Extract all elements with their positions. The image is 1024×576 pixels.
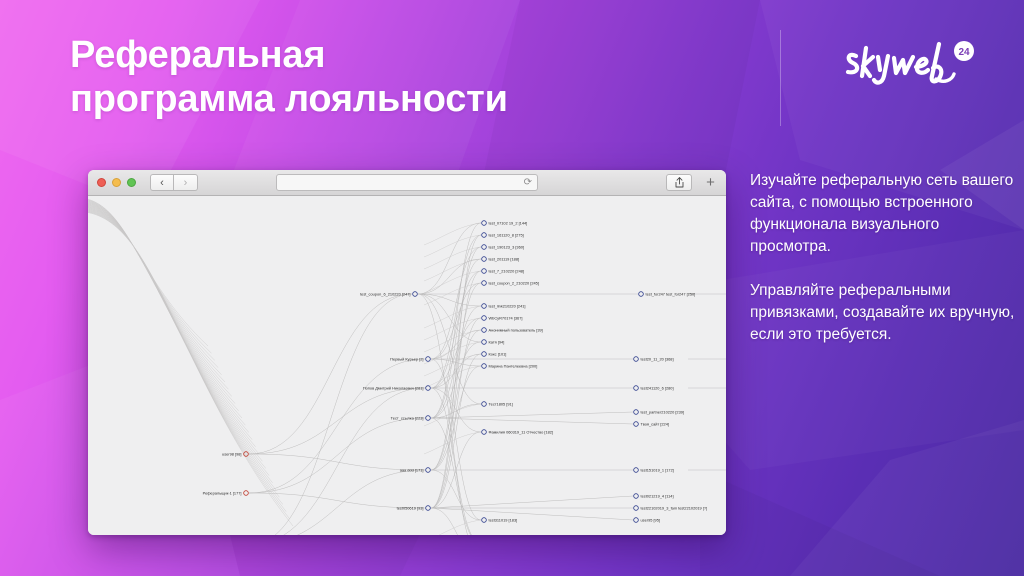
back-button[interactable]: ‹ — [150, 174, 174, 191]
graph-node[interactable]: Катя [94] — [482, 340, 505, 345]
node-label: Тест1805 [91] — [489, 402, 513, 407]
node-label: user98 [98] — [222, 452, 241, 457]
graph-node[interactable]: test151019_1 [172] — [634, 468, 674, 473]
graph-edge — [88, 201, 225, 382]
node-label: Кокс [101] — [489, 352, 507, 357]
graph-edge — [431, 412, 633, 418]
graph-edge — [88, 205, 252, 439]
graph-edge — [249, 294, 412, 535]
node-marker — [482, 402, 487, 407]
node-label: test_partner210220 [239] — [641, 410, 684, 415]
share-icon — [675, 177, 684, 188]
node-label: test_coupon_2_210220 [245] — [489, 281, 539, 286]
graph-node[interactable]: test22102019_3_fam test22102019 [?] — [634, 506, 707, 511]
graph-node[interactable]: Анонимный пользователь [39] — [482, 328, 543, 333]
node-marker — [426, 357, 431, 362]
graph-edge — [88, 212, 293, 526]
node-label: test151019_1 [172] — [641, 468, 674, 473]
graph-edge — [249, 359, 425, 493]
node-label: test_161120_8 [275] — [489, 233, 524, 238]
graph-edge — [431, 508, 633, 520]
graph-node[interactable]: test_link210220 [241] — [482, 304, 526, 309]
page-title: Реферальная программа лояльности — [70, 33, 508, 121]
graph-edge — [418, 259, 481, 294]
node-marker — [482, 430, 487, 435]
node-marker — [634, 386, 639, 391]
graph-edge — [431, 418, 481, 535]
node-marker — [482, 281, 487, 286]
description-paragraph-2: Управляйте реферальными привязками, созд… — [750, 280, 1018, 346]
graph-node[interactable]: test_190123_3 [360] — [482, 245, 524, 250]
node-marker — [482, 328, 487, 333]
graph-edge — [88, 201, 228, 389]
node-label: user95 [95] — [641, 518, 660, 523]
graph-edge — [249, 388, 425, 454]
graph-node[interactable]: WbCyR70174 [367] — [482, 316, 523, 321]
node-marker — [482, 304, 487, 309]
node-label: test021219_4 [114] — [641, 494, 674, 499]
graph-edge — [431, 418, 633, 424]
graph-edge — [424, 247, 481, 269]
node-marker — [426, 416, 431, 421]
graph-node[interactable]: Фамилия 060319_11 Отчество [182] — [482, 430, 553, 435]
graph-edge — [249, 388, 425, 535]
node-marker — [426, 468, 431, 473]
graph-node[interactable]: test_161120_8 [275] — [482, 233, 524, 238]
node-marker — [482, 340, 487, 345]
graph-edge — [424, 520, 481, 535]
node-marker — [634, 518, 639, 523]
graph-node[interactable]: Тест1805 [91] — [482, 402, 513, 407]
graph-node[interactable]: test_partner210220 [239] — [634, 410, 684, 415]
graph-node[interactable]: test021219_4 [114] — [634, 494, 674, 499]
graph-edge — [431, 359, 481, 520]
graph-node[interactable]: test_7_210220 [248] — [482, 269, 524, 274]
skyweb-wordmark-icon: 24 — [840, 36, 990, 92]
graph-edge — [249, 294, 412, 454]
node-label: test_7_210220 [248] — [489, 269, 524, 274]
graph-edge — [88, 206, 259, 454]
graph-node[interactable]: user95 [95] — [634, 518, 660, 523]
node-marker — [634, 468, 639, 473]
graph-edge — [431, 318, 481, 508]
node-label: test_07102 19_2 [144] — [489, 221, 528, 226]
minimize-window-icon[interactable] — [112, 178, 121, 187]
graph-edge — [88, 210, 283, 504]
node-label: test241120_6 [280] — [641, 386, 674, 391]
node-label: test_for247 test_for247 [250] — [646, 292, 696, 297]
graph-edge — [424, 259, 481, 281]
node-marker — [482, 221, 487, 226]
node-marker — [244, 491, 249, 496]
graph-edge — [424, 235, 481, 257]
node-label: aaa ddd [171] — [400, 468, 424, 473]
referral-network-graph[interactable]: user98 [98]Реферальщик-1 [177]Реферальщи… — [88, 196, 726, 535]
node-label: test_190123_3 [360] — [489, 245, 524, 250]
graph-node[interactable]: test241120_6 [280] — [634, 386, 674, 391]
node-label: Фамилия 060319_11 Отчество [182] — [489, 430, 554, 435]
graph-edge — [88, 203, 239, 411]
graph-node[interactable]: Реферальщик-1 [177] — [203, 491, 249, 496]
graph-node[interactable]: Кокс [101] — [482, 352, 507, 357]
graph-edge — [88, 200, 218, 368]
graph-edge — [431, 330, 481, 470]
graph-edge — [431, 470, 481, 520]
graph-edge — [88, 211, 286, 512]
graph-edge — [88, 200, 222, 375]
graph-node[interactable]: test_07102 19_2 [144] — [482, 221, 528, 226]
zoom-window-icon[interactable] — [127, 178, 136, 187]
graph-edges — [88, 198, 726, 535]
graph-edge — [88, 202, 232, 397]
graph-edge — [88, 202, 235, 403]
header-divider — [780, 30, 781, 126]
node-marker — [482, 364, 487, 369]
graph-viewport[interactable]: user98 [98]Реферальщик-1 [177]Реферальщи… — [88, 196, 726, 535]
graph-node[interactable]: test20_11_20 [368] — [634, 357, 674, 362]
node-label: test_link210220 [241] — [489, 304, 526, 309]
feature-description: Изучайте реферальную сеть вашего сайта, … — [750, 170, 1018, 346]
navigation-buttons: ‹ › — [150, 174, 198, 191]
graph-node[interactable]: Попов Дмитрий Николаевич [281] — [363, 386, 430, 391]
description-paragraph-1: Изучайте реферальную сеть вашего сайта, … — [750, 170, 1018, 258]
graph-edge — [88, 206, 256, 447]
graph-edge — [418, 294, 481, 342]
node-label: Твоя_сайт [224] — [641, 422, 669, 427]
graph-edge — [431, 388, 481, 432]
node-label: Тест_ссылка [223] — [391, 416, 424, 421]
graph-node[interactable]: Марина Пантелеевна [200] — [482, 364, 538, 369]
node-marker — [634, 357, 639, 362]
graph-node[interactable]: test_coupon_6_210220 [247] — [360, 292, 417, 297]
node-marker — [482, 245, 487, 250]
brand-badge-number: 24 — [958, 47, 970, 58]
node-label: Первый Курьер [2] — [390, 357, 423, 362]
browser-window: ‹ › ⟳ + user98 [98]Реферальщик-1 [177]Ре… — [88, 170, 726, 535]
new-tab-button[interactable]: + — [701, 173, 720, 192]
graph-edge — [88, 205, 249, 433]
node-label: test_coupon_6_210220 [247] — [360, 292, 410, 297]
graph-edge — [88, 204, 245, 425]
graph-nodes: user98 [98]Реферальщик-1 [177]Реферальщи… — [203, 221, 708, 536]
graph-edge — [88, 204, 242, 419]
graph-edge — [88, 211, 290, 519]
node-marker — [482, 518, 487, 523]
node-marker — [482, 257, 487, 262]
node-label: Реферальщик-1 [177] — [203, 491, 242, 496]
graph-node[interactable]: test_coupon_2_210220 [245] — [482, 281, 539, 286]
forward-button[interactable]: › — [174, 174, 198, 191]
node-marker — [482, 316, 487, 321]
node-label: test311019 [183] — [489, 518, 518, 523]
graph-edge — [418, 223, 481, 294]
graph-edge — [88, 199, 211, 354]
graph-edge — [431, 496, 633, 508]
graph-edge — [249, 418, 425, 493]
node-marker — [482, 352, 487, 357]
node-marker — [482, 233, 487, 238]
browser-toolbar: ‹ › ⟳ + — [88, 170, 726, 196]
traffic-lights — [97, 178, 136, 187]
node-label: Марина Пантелеевна [200] — [489, 364, 538, 369]
close-window-icon[interactable] — [97, 178, 106, 187]
node-label: test22102019_3_fam test22102019 [?] — [641, 506, 708, 511]
node-label: test050619 [93] — [397, 506, 424, 511]
graph-node[interactable]: aaa ddd [171] — [400, 468, 431, 473]
reload-icon[interactable]: ⟳ — [524, 178, 532, 188]
graph-node[interactable]: test_for247 test_for247 [250] — [639, 292, 696, 297]
node-marker — [426, 506, 431, 511]
node-label: Анонимный пользователь [39] — [489, 328, 543, 333]
graph-node[interactable]: Твоя_сайт [224] — [634, 422, 669, 427]
brand-logo: 24 — [840, 36, 990, 92]
share-button[interactable] — [666, 174, 692, 191]
node-marker — [634, 422, 639, 427]
node-label: Попов Дмитрий Николаевич [281] — [363, 386, 424, 391]
node-label: test20_11_20 [368] — [641, 357, 674, 362]
node-marker — [634, 506, 639, 511]
graph-node[interactable]: test311019 [183] — [482, 518, 518, 523]
node-marker — [634, 410, 639, 415]
node-label: Катя [94] — [489, 340, 505, 345]
graph-edge — [424, 354, 481, 376]
node-marker — [634, 494, 639, 499]
node-marker — [413, 292, 418, 297]
node-marker — [482, 269, 487, 274]
node-marker — [639, 292, 644, 297]
graph-edge — [88, 199, 215, 360]
node-label: WbCyR70174 [367] — [489, 316, 523, 321]
address-bar[interactable]: ⟳ — [276, 174, 538, 191]
graph-edge — [249, 454, 425, 470]
graph-node[interactable]: test050619 [93] — [397, 506, 431, 511]
graph-node[interactable]: test_201119 [188] — [482, 257, 519, 262]
node-label: test_201119 [188] — [489, 257, 520, 262]
